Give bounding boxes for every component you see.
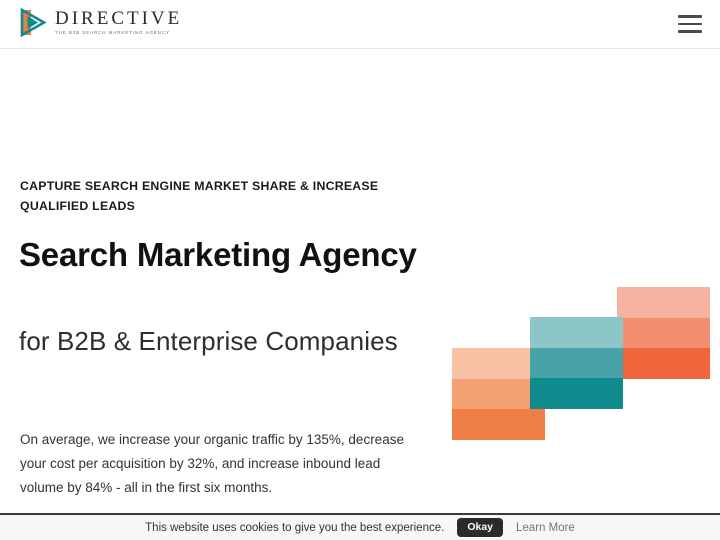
hamburger-bar-2 [678, 23, 702, 26]
logo-text-group: DIRECTIVE THE B2B SEARCH MARKETING AGENC… [55, 8, 182, 37]
hamburger-bar-3 [678, 30, 702, 33]
site-logo[interactable]: DIRECTIVE THE B2B SEARCH MARKETING AGENC… [20, 8, 182, 37]
cookie-consent-banner: This website uses cookies to give you th… [0, 513, 720, 540]
middle-teal-column-cell-2 [530, 348, 623, 379]
right-orange-column-cell-1 [617, 287, 710, 318]
middle-teal-column [530, 317, 623, 409]
right-orange-column-cell-3 [617, 348, 710, 379]
hamburger-bar-1 [678, 15, 702, 18]
hero-subheadline: for B2B & Enterprise Companies [19, 320, 439, 362]
logo-wordmark: DIRECTIVE [55, 8, 182, 29]
right-orange-column [617, 287, 710, 379]
right-orange-column-cell-2 [617, 318, 710, 349]
middle-teal-column-cell-3 [530, 378, 623, 409]
cookie-accept-button[interactable]: Okay [457, 518, 503, 537]
hero-eyebrow: CAPTURE SEARCH ENGINE MARKET SHARE & INC… [20, 176, 400, 216]
logo-tagline: THE B2B SEARCH MARKETING AGENCY [55, 29, 182, 37]
hamburger-menu-icon[interactable] [678, 15, 702, 33]
cookie-message: This website uses cookies to give you th… [145, 522, 444, 534]
hero-body-text: On average, we increase your organic tra… [20, 428, 420, 500]
left-orange-column-cell-3 [452, 409, 545, 440]
staircase-color-blocks [452, 287, 700, 441]
page-root: DIRECTIVE THE B2B SEARCH MARKETING AGENC… [0, 0, 720, 540]
site-header: DIRECTIVE THE B2B SEARCH MARKETING AGENC… [0, 0, 720, 49]
cookie-learn-more-link[interactable]: Learn More [516, 522, 575, 534]
middle-teal-column-cell-1 [530, 317, 623, 348]
directive-play-triangle-icon [20, 8, 47, 37]
hero-headline: Search Marketing Agency [19, 234, 439, 276]
